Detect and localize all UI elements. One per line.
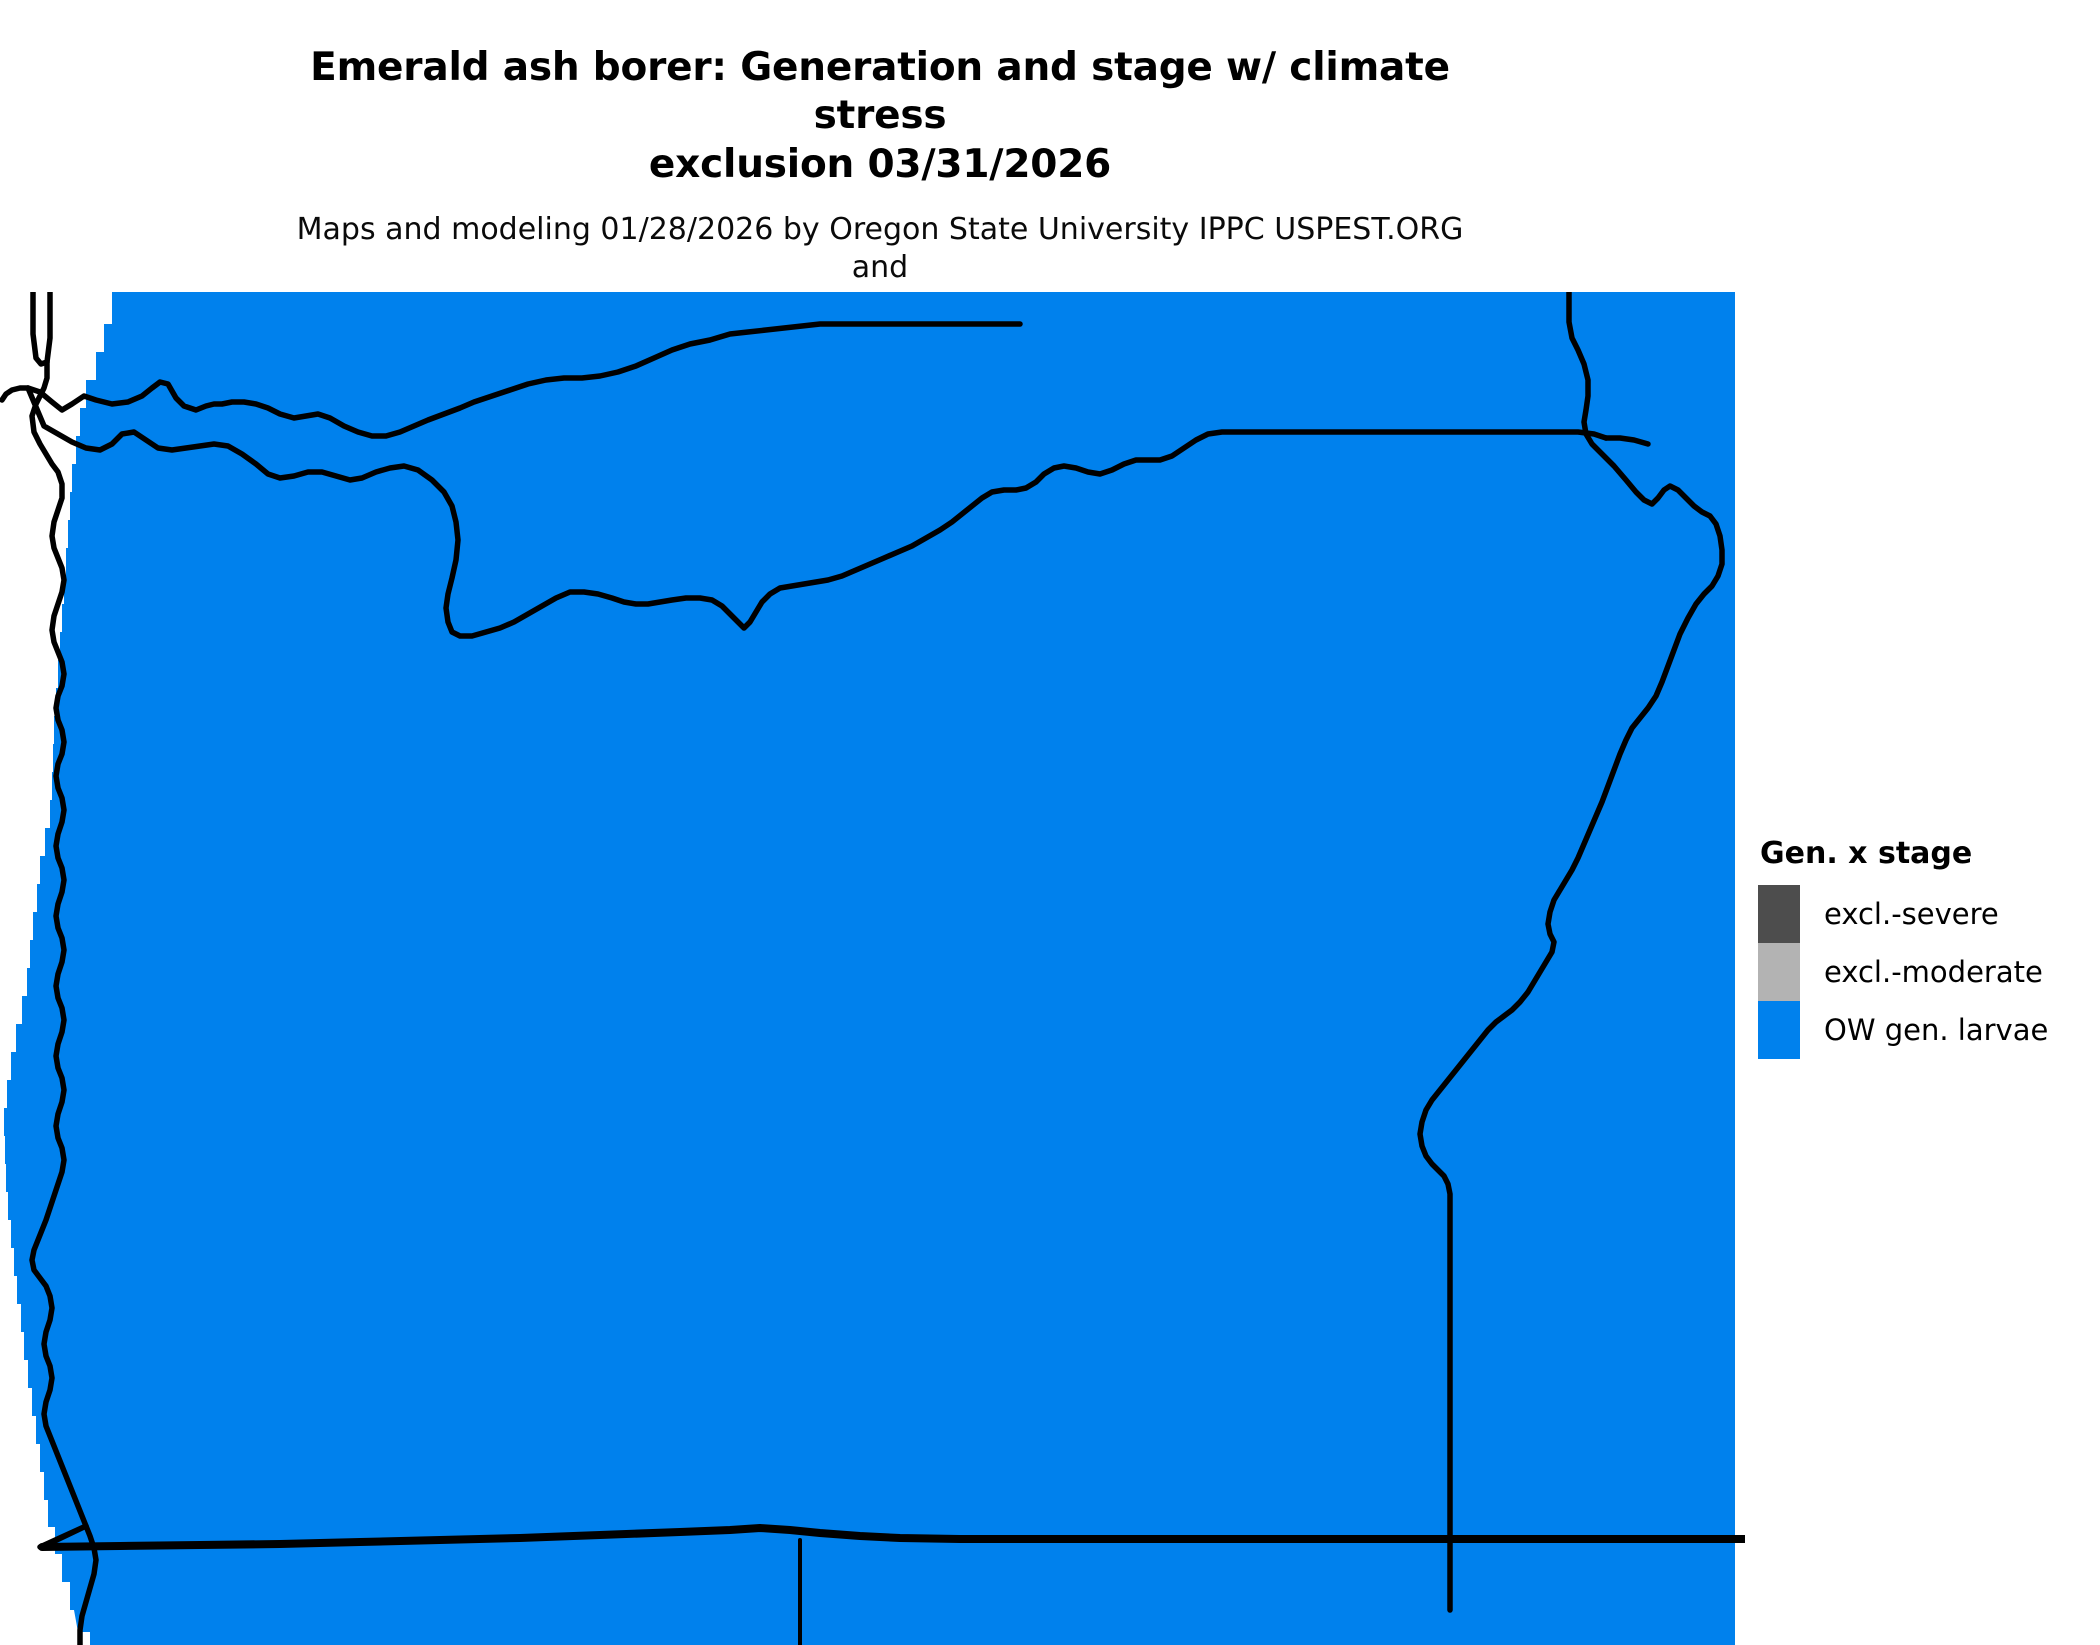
map-legend: Gen. x stage excl.-severe excl.-moderate…: [1758, 836, 2088, 1059]
legend-label-excl-severe: excl.-severe: [1824, 897, 1999, 931]
map-canvas[interactable]: [0, 292, 1745, 1645]
page-title: Emerald ash borer: Generation and stage …: [290, 44, 1470, 189]
legend-item-ow-gen-larvae[interactable]: OW gen. larvae: [1758, 1001, 2088, 1059]
map-raster-fill: [4, 292, 1735, 1645]
legend-label-excl-moderate: excl.-moderate: [1824, 955, 2043, 989]
legend-item-excl-severe[interactable]: excl.-severe: [1758, 885, 2088, 943]
page-subtitle-line-1: Maps and modeling 01/28/2026 by Oregon S…: [285, 211, 1475, 288]
columbia-river-boundary: [33, 292, 50, 364]
page-title-line-1: Emerald ash borer: Generation and stage …: [290, 44, 1470, 141]
legend-swatch-excl-moderate: [1758, 943, 1800, 1001]
legend-item-excl-moderate[interactable]: excl.-moderate: [1758, 943, 2088, 1001]
oregon-choropleth-map[interactable]: [0, 292, 1745, 1645]
page-title-line-2: exclusion 03/31/2026: [290, 141, 1470, 189]
legend-swatch-excl-severe: [1758, 885, 1800, 943]
legend-label-ow-gen-larvae: OW gen. larvae: [1824, 1013, 2048, 1047]
chart-header: Emerald ash borer: Generation and stage …: [0, 0, 1760, 326]
legend-title: Gen. x stage: [1760, 836, 2088, 871]
coastal-inlets: [2, 388, 28, 400]
legend-swatch-ow-gen-larvae: [1758, 1001, 1800, 1059]
